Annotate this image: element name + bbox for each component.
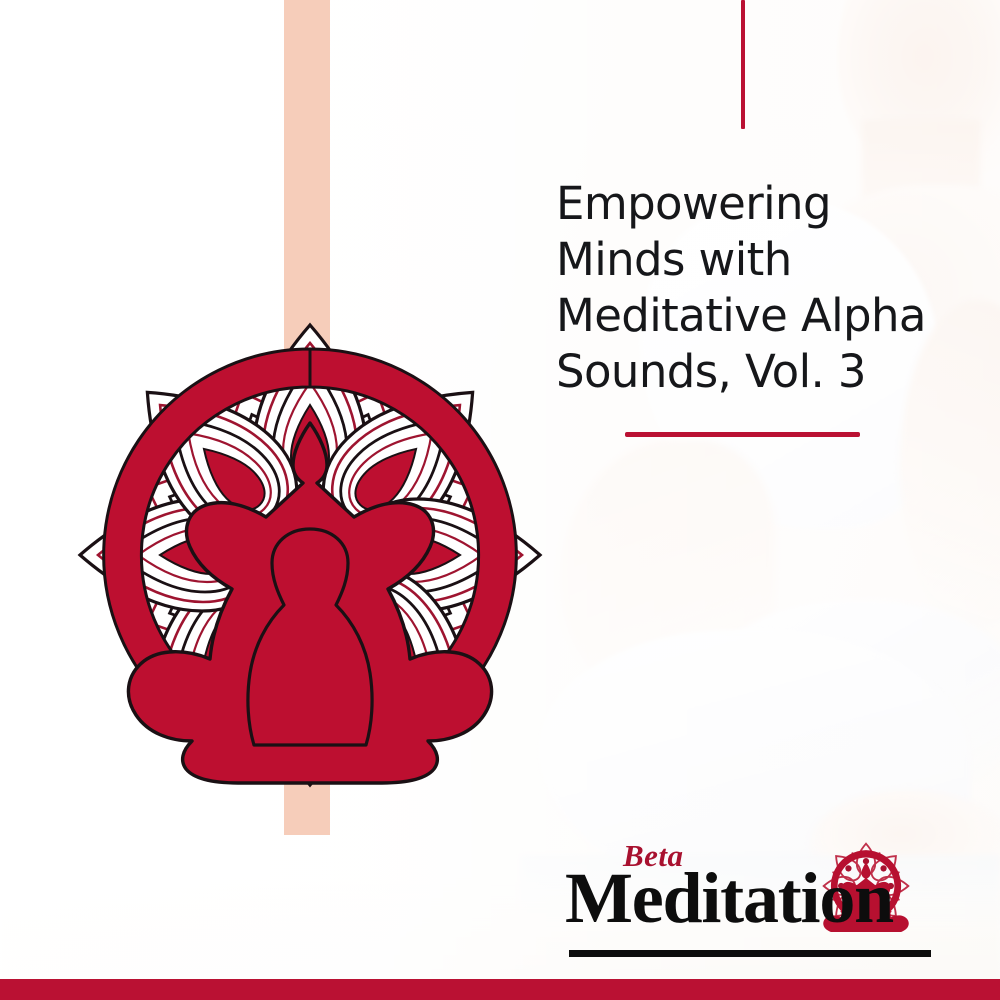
title-line-4: Sounds, Vol. 3	[556, 344, 966, 400]
poster-canvas: Empowering Minds with Meditative Alpha S…	[0, 0, 1000, 1000]
title-line-2: Minds with	[556, 232, 966, 288]
title-underline-rule	[625, 432, 860, 437]
brand-wordmark: Meditation	[565, 862, 893, 934]
title-line-3: Meditative Alpha	[556, 288, 966, 344]
brand-underline	[569, 950, 931, 957]
brand-logo: Beta Meditation	[565, 840, 945, 970]
vertical-red-accent-line	[741, 0, 745, 129]
title-block: Empowering Minds with Meditative Alpha S…	[556, 176, 966, 400]
footer-red-bar	[0, 979, 1000, 1000]
title-line-1: Empowering	[556, 176, 966, 232]
lotus-mandala-meditation-emblem	[10, 255, 610, 865]
